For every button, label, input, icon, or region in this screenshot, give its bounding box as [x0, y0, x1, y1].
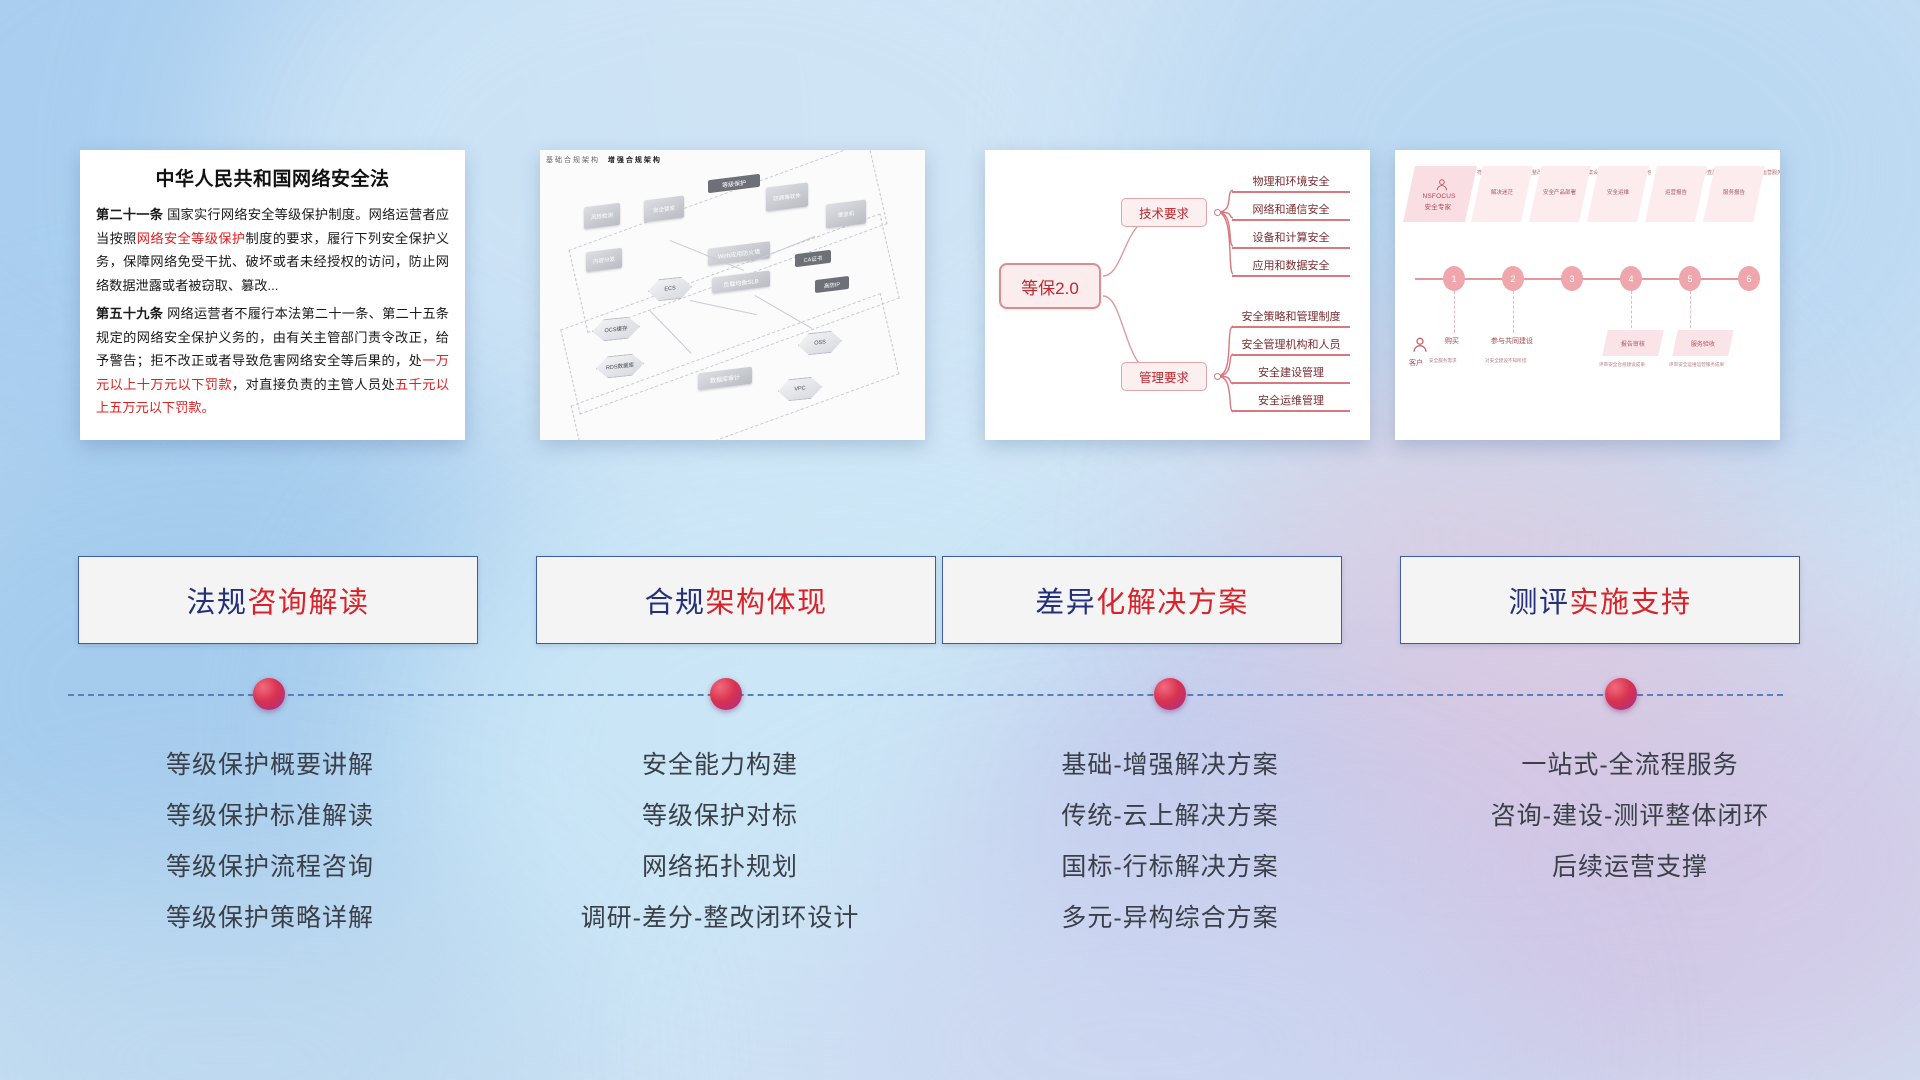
detail-list-differentiated-solution: 基础-增强解决方案 传统-云上解决方案 国标-行标解决方案 多元-异构综合方案	[950, 740, 1390, 944]
service-button-1-text: 法规咨询解读	[186, 579, 369, 621]
nsfocus-footer-review-2-label: 服务验收	[1691, 339, 1715, 348]
thumbnail-card-row: 中华人民共和国网络安全法 第二十一条 国家实行网络安全等级保护制度。网络运营者应…	[0, 150, 1920, 445]
mindmap-leaf-org: 安全管理机构和人员	[1232, 331, 1350, 356]
detail-list-assessment-support: 一站式-全流程服务 咨询-建设-测评整体闭环 后续运营支撑	[1395, 740, 1865, 893]
nsfocus-stage-tag-1-label: 解决迷茫	[1491, 190, 1513, 197]
list-item: 等级保护流程咨询	[50, 842, 490, 893]
nsfocus-stage-tag-4-label: 运营报告	[1665, 190, 1687, 197]
service-button-row: 法规咨询解读 合规架构体现 差异化解决方案 测评实施支持	[0, 556, 1920, 646]
expert-person-icon	[1435, 178, 1449, 192]
nsfocus-dash-2	[1513, 291, 1514, 333]
card-compliance-architecture[interactable]: 基础合规架构 增强合规架构 等级保护 风险检测 安全管家 防病毒软件 堡垒机 W…	[540, 150, 925, 440]
mindmap-leaf-policy: 安全策略和管理制度	[1232, 303, 1350, 328]
nsfocus-customer-label: 客户	[1409, 358, 1423, 368]
mindmap-leaf-construction: 安全建设管理	[1232, 359, 1350, 384]
architecture-node-risk: 风险检测	[584, 203, 620, 229]
architecture-node-bastion: 堡垒机	[826, 200, 866, 229]
nsfocus-customer-action-1: 购买	[1445, 336, 1459, 346]
timeline-dot-1[interactable]	[253, 678, 285, 710]
nsfocus-step-4[interactable]: 4	[1620, 266, 1642, 291]
service-button-4-red: 实施支持	[1570, 587, 1692, 619]
list-item: 调研-差分-整改闭环设计	[500, 893, 940, 944]
service-button-differentiated-solution[interactable]: 差异化解决方案	[942, 556, 1342, 644]
law-article-59-label: 第五十九条	[96, 306, 163, 321]
nsfocus-dash-4	[1690, 291, 1691, 333]
nsfocus-customer-action-2: 参与共同建设	[1491, 336, 1533, 346]
service-button-2-red: 架构体现	[706, 587, 828, 619]
mindmap-leaf-physical: 物理和环境安全	[1232, 168, 1350, 193]
timeline-dot-3[interactable]	[1154, 678, 1186, 710]
service-button-compliance-architecture[interactable]: 合规架构体现	[536, 556, 936, 644]
nsfocus-footer-cap-1: 评审安全合规建设成果	[1599, 362, 1645, 368]
list-item: 多元-异构综合方案	[950, 893, 1390, 944]
service-button-2-navy: 合规	[644, 587, 705, 619]
detail-list-compliance-architecture: 安全能力构建 等级保护对标 网络拓扑规划 调研-差分-整改闭环设计	[500, 740, 940, 944]
card-nsfocus-service-flow[interactable]: NSFOCUS 安全专家 符合性差距分析及合规性整改建议 定级指导 方案设计、安…	[1395, 150, 1780, 440]
card-mindmap-dengbao[interactable]: 等保2.0 技术要求 物理和环境安全 网络和通信安全 设备和计算安全 应用和数据…	[985, 150, 1370, 440]
nsfocus-flow: NSFOCUS 安全专家 符合性差距分析及合规性整改建议 定级指导 方案设计、安…	[1395, 150, 1780, 440]
list-item: 网络拓扑规划	[500, 842, 940, 893]
mindmap-leaf-device: 设备和计算安全	[1232, 224, 1350, 249]
nsfocus-stage-tag-3-label: 安全运维	[1607, 190, 1629, 197]
list-item: 等级保护策略详解	[50, 893, 490, 944]
nsfocus-footer-review-1-label: 报告审核	[1621, 339, 1645, 348]
nsfocus-stage-tag-4: 运营报告	[1645, 166, 1707, 222]
nsfocus-footer-review-1: 报告审核	[1602, 330, 1664, 356]
service-button-4-text: 测评实施支持	[1508, 579, 1691, 621]
nsfocus-stage-tag-2-label: 安全产品部署	[1543, 190, 1576, 197]
timeline-dot-2[interactable]	[710, 678, 742, 710]
mindmap-branch-management[interactable]: 管理要求	[1121, 362, 1207, 391]
list-item: 一站式-全流程服务	[1395, 740, 1865, 791]
service-button-3-text: 差异化解决方案	[1035, 579, 1249, 621]
mindmap-dot-management	[1214, 373, 1221, 380]
list-item: 等级保护概要讲解	[50, 740, 490, 791]
nsfocus-brand-name: NSFOCUS	[1423, 193, 1456, 200]
nsfocus-footer-cap-2: 评审安全运维运营服务成果	[1669, 362, 1724, 368]
architecture-header: 基础合规架构 增强合规架构	[546, 155, 662, 165]
list-item: 等级保护标准解读	[50, 791, 490, 842]
service-button-3-red: 化解决方案	[1096, 587, 1249, 619]
nsfocus-stage-tag-5: 服务报告	[1703, 166, 1765, 222]
service-button-assessment-support[interactable]: 测评实施支持	[1400, 556, 1800, 644]
nsfocus-step-1[interactable]: 1	[1443, 266, 1465, 291]
architecture-header-dim: 基础合规架构	[546, 157, 600, 164]
mindmap-branch-technical[interactable]: 技术要求	[1121, 198, 1207, 227]
law-article-21-label: 第二十一条	[96, 207, 163, 222]
mindmap: 等保2.0 技术要求 物理和环境安全 网络和通信安全 设备和计算安全 应用和数据…	[985, 150, 1370, 440]
nsfocus-dash-3	[1631, 291, 1632, 333]
architecture-header-bold: 增强合规架构	[608, 157, 662, 164]
customer-person-icon	[1411, 336, 1429, 354]
service-button-1-navy: 法规	[186, 587, 247, 619]
nsfocus-customer-cap-1: 安全服务需求	[1429, 358, 1457, 364]
service-button-2-text: 合规架构体现	[644, 579, 827, 621]
list-item: 后续运营支撑	[1395, 842, 1865, 893]
timeline-dot-4[interactable]	[1605, 678, 1637, 710]
mindmap-leaf-operation: 安全运维管理	[1232, 387, 1350, 412]
nsfocus-dash-1	[1454, 291, 1455, 333]
architecture-diagram: 基础合规架构 增强合规架构 等级保护 风险检测 安全管家 防病毒软件 堡垒机 W…	[540, 150, 925, 440]
nsfocus-brand-banner: NSFOCUS 安全专家	[1403, 166, 1477, 222]
nsfocus-customer-cap-2: 对安全建设不知所措	[1485, 358, 1526, 364]
card-cybersecurity-law[interactable]: 中华人民共和国网络安全法 第二十一条 国家实行网络安全等级保护制度。网络运营者应…	[80, 150, 465, 440]
service-button-3-navy: 差异	[1035, 587, 1096, 619]
service-button-4-navy: 测评	[1508, 587, 1569, 619]
nsfocus-stage-tag-2: 安全产品部署	[1529, 166, 1591, 222]
detail-list-row: 等级保护概要讲解 等级保护标准解读 等级保护流程咨询 等级保护策略详解 安全能力…	[0, 740, 1920, 970]
list-item: 传统-云上解决方案	[950, 791, 1390, 842]
timeline-dashed-line	[68, 694, 1783, 696]
nsfocus-brand-sub: 安全专家	[1424, 201, 1451, 211]
nsfocus-step-5[interactable]: 5	[1679, 266, 1701, 291]
list-item: 基础-增强解决方案	[950, 740, 1390, 791]
nsfocus-step-6[interactable]: 6	[1738, 266, 1760, 291]
mindmap-leaf-application: 应用和数据安全	[1232, 252, 1350, 277]
nsfocus-stage-tag-1: 解决迷茫	[1471, 166, 1533, 222]
list-item: 等级保护对标	[500, 791, 940, 842]
timeline	[0, 660, 1920, 730]
mindmap-root[interactable]: 等保2.0	[999, 263, 1101, 309]
law-article-59: 第五十九条 网络运营者不履行本法第二十一条、第二十五条规定的网络安全保护义务的，…	[96, 302, 449, 420]
nsfocus-footer-review-2: 服务验收	[1672, 330, 1734, 356]
nsfocus-stage-tag-5-label: 服务报告	[1723, 190, 1745, 197]
detail-list-regulation-consulting: 等级保护概要讲解 等级保护标准解读 等级保护流程咨询 等级保护策略详解	[50, 740, 490, 944]
list-item: 安全能力构建	[500, 740, 940, 791]
list-item: 咨询-建设-测评整体闭环	[1395, 791, 1865, 842]
list-item: 国标-行标解决方案	[950, 842, 1390, 893]
nsfocus-step-2[interactable]: 2	[1502, 266, 1524, 291]
mindmap-leaf-network: 网络和通信安全	[1232, 196, 1350, 221]
service-button-regulation-consulting[interactable]: 法规咨询解读	[78, 556, 478, 644]
service-button-1-red: 咨询解读	[248, 587, 370, 619]
nsfocus-step-3[interactable]: 3	[1561, 266, 1583, 291]
law-title: 中华人民共和国网络安全法	[96, 164, 449, 191]
law-document: 中华人民共和国网络安全法 第二十一条 国家实行网络安全等级保护制度。网络运营者应…	[80, 150, 465, 435]
mindmap-dot-technical	[1214, 209, 1221, 216]
nsfocus-stage-tag-3: 安全运维	[1587, 166, 1649, 222]
nsfocus-timeline-axis	[1415, 278, 1760, 280]
law-article-59-text-mid: ，对直接负责的主管人员处	[232, 377, 395, 392]
law-article-21-highlight: 网络安全等级保护	[137, 231, 246, 246]
law-article-21: 第二十一条 国家实行网络安全等级保护制度。网络运营者应当按照网络安全等级保护制度…	[96, 203, 449, 297]
